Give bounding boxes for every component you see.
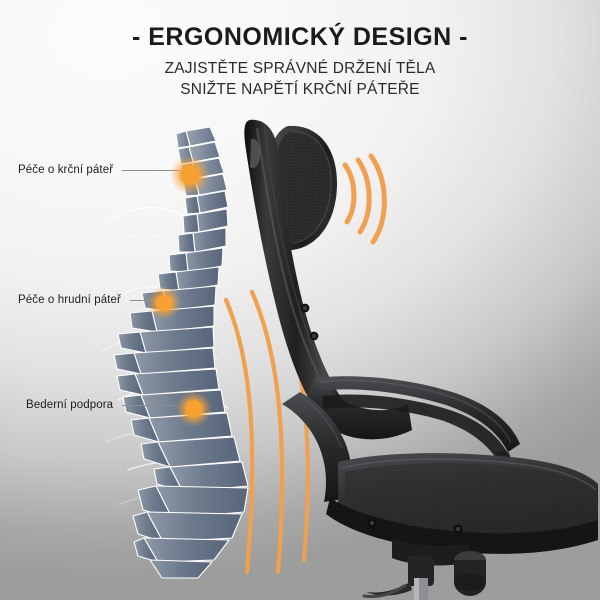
headrest-support-arcs <box>345 156 384 242</box>
hotspot-overlay <box>0 0 600 600</box>
cervical-hotspot <box>170 155 210 195</box>
thoracic-hotspot <box>147 286 181 320</box>
promo-graphic: - ERGONOMICKÝ DESIGN - ZAJISTĚTE SPRÁVNÉ… <box>0 0 600 600</box>
lumbar-hotspot <box>176 391 212 427</box>
